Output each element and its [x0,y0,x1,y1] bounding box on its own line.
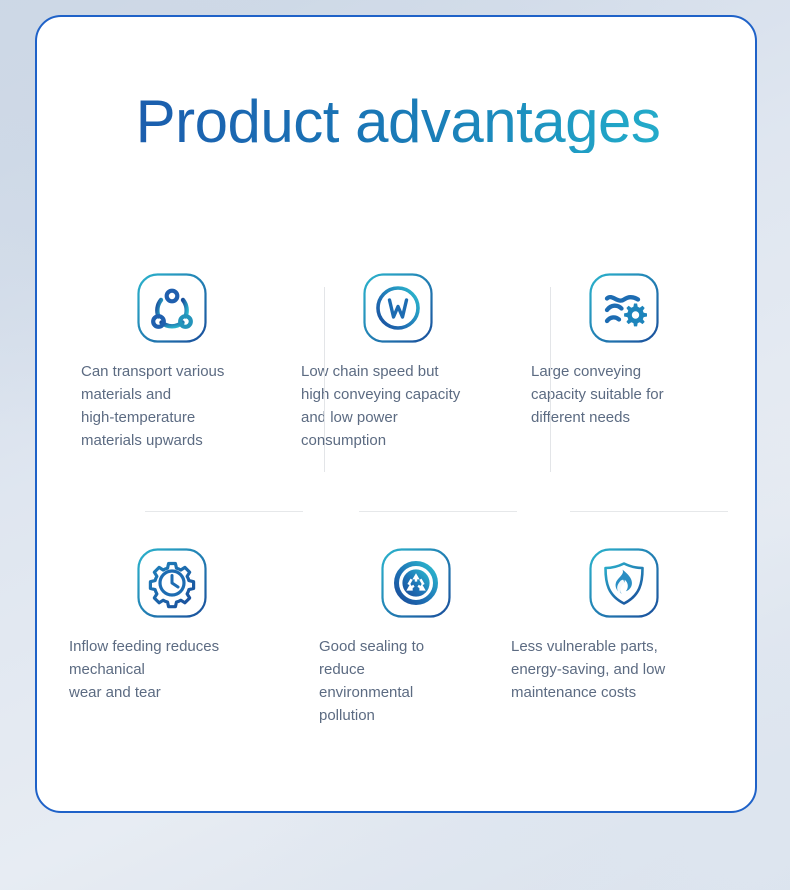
shield-flame-icon [588,547,660,619]
features-row-2: Inflow feeding reduces mechanical wear a… [59,532,737,792]
page-background: Product advantages [0,0,790,890]
page-title: Product advantages [37,90,757,153]
column-divider [324,287,325,435]
feature-item[interactable]: Can transport various materials and high… [59,257,285,532]
recycle-circle-icon [380,547,452,619]
feature-text: Inflow feeding reduces mechanical wear a… [59,635,285,704]
feature-item[interactable]: Good sealing to reduce environmental pol… [285,532,511,792]
flow-gear-icon [588,272,660,344]
gear-clock-icon [136,547,208,619]
watt-circle-icon [362,272,434,344]
feature-item[interactable]: Inflow feeding reduces mechanical wear a… [59,532,285,792]
feature-text: Large conveying capacity suitable for di… [511,360,737,429]
feature-text: Can transport various materials and high… [59,360,285,452]
content-card: Product advantages [35,15,757,813]
feature-icon-wrap [59,532,285,619]
feature-item[interactable]: Less vulnerable parts, energy-saving, an… [511,532,737,792]
feature-text: Less vulnerable parts, energy-saving, an… [511,635,737,704]
column-divider [550,287,551,435]
features-row-1: Can transport various materials and high… [59,257,737,532]
feature-icon-wrap [285,532,529,619]
features-grid: Can transport various materials and high… [59,257,737,792]
feature-text: Good sealing to reduce environmental pol… [285,635,511,727]
feature-icon-wrap [511,257,737,344]
feature-item[interactable]: Low chain speed but high conveying capac… [285,257,511,532]
feature-icon-wrap [59,257,285,344]
feature-item[interactable]: Large conveying capacity suitable for di… [511,257,737,532]
feature-icon-wrap [511,532,737,619]
share-network-icon [136,272,208,344]
feature-icon-wrap [285,257,511,344]
feature-text: Low chain speed but high conveying capac… [285,360,511,452]
